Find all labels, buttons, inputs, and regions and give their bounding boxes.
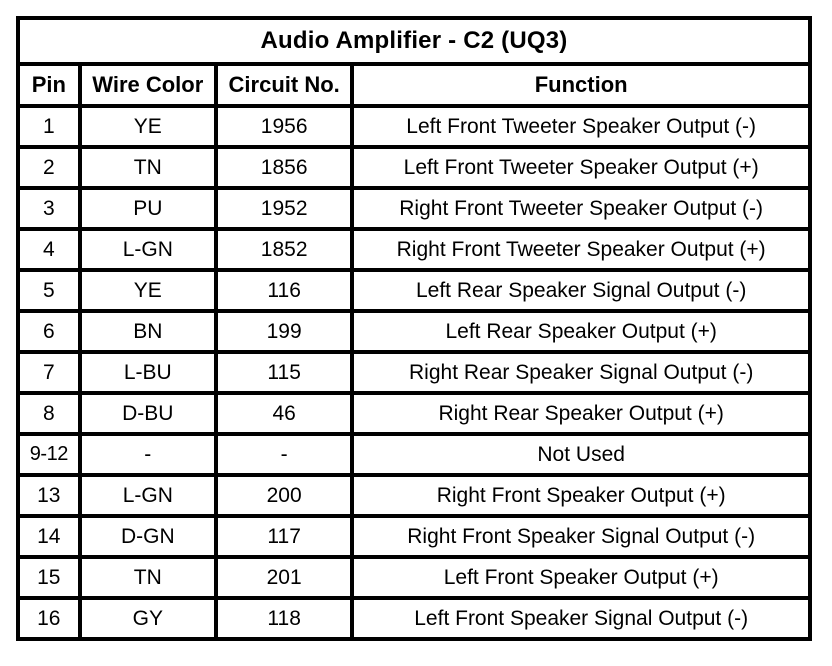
- table-head: Audio Amplifier - C2 (UQ3) Pin Wire Colo…: [20, 20, 812, 108]
- table-row: 16GY118Left Front Speaker Signal Output …: [20, 600, 812, 641]
- column-header-pin: Pin: [20, 66, 82, 108]
- cell-function: Left Rear Speaker Output (+): [354, 313, 812, 354]
- table-row: 1YE1956Left Front Tweeter Speaker Output…: [20, 108, 812, 149]
- cell-pin: 4: [20, 231, 82, 272]
- cell-circuit-no: 200: [218, 477, 354, 518]
- table-row: 9-12--Not Used: [20, 436, 812, 477]
- table-row: 8D-BU46Right Rear Speaker Output (+): [20, 395, 812, 436]
- cell-function: Left Front Tweeter Speaker Output (+): [354, 149, 812, 190]
- cell-wire-color: -: [82, 436, 218, 477]
- pinout-table-container: Audio Amplifier - C2 (UQ3) Pin Wire Colo…: [16, 16, 812, 641]
- cell-wire-color: D-GN: [82, 518, 218, 559]
- cell-function: Right Rear Speaker Output (+): [354, 395, 812, 436]
- table-title: Audio Amplifier - C2 (UQ3): [20, 20, 812, 66]
- table-row: 3PU1952Right Front Tweeter Speaker Outpu…: [20, 190, 812, 231]
- cell-function: Left Front Speaker Output (+): [354, 559, 812, 600]
- table-body: 1YE1956Left Front Tweeter Speaker Output…: [20, 108, 812, 641]
- cell-wire-color: TN: [82, 559, 218, 600]
- table-row: 2TN1856Left Front Tweeter Speaker Output…: [20, 149, 812, 190]
- table-row: 4L-GN1852Right Front Tweeter Speaker Out…: [20, 231, 812, 272]
- cell-circuit-no: 46: [218, 395, 354, 436]
- cell-wire-color: YE: [82, 108, 218, 149]
- cell-circuit-no: 115: [218, 354, 354, 395]
- column-header-function: Function: [354, 66, 812, 108]
- table-row: 7L-BU115Right Rear Speaker Signal Output…: [20, 354, 812, 395]
- cell-circuit-no: 1956: [218, 108, 354, 149]
- table-header-row: Pin Wire Color Circuit No. Function: [20, 66, 812, 108]
- cell-circuit-no: 118: [218, 600, 354, 641]
- cell-wire-color: L-BU: [82, 354, 218, 395]
- table-row: 14D-GN117Right Front Speaker Signal Outp…: [20, 518, 812, 559]
- cell-circuit-no: 201: [218, 559, 354, 600]
- cell-wire-color: PU: [82, 190, 218, 231]
- table-row: 13L-GN200Right Front Speaker Output (+): [20, 477, 812, 518]
- cell-wire-color: GY: [82, 600, 218, 641]
- cell-circuit-no: 1856: [218, 149, 354, 190]
- cell-wire-color: YE: [82, 272, 218, 313]
- cell-pin: 3: [20, 190, 82, 231]
- cell-function: Right Front Tweeter Speaker Output (-): [354, 190, 812, 231]
- cell-pin: 6: [20, 313, 82, 354]
- table-row: 15TN201Left Front Speaker Output (+): [20, 559, 812, 600]
- audio-amplifier-pinout-table: Audio Amplifier - C2 (UQ3) Pin Wire Colo…: [16, 16, 812, 641]
- cell-circuit-no: 199: [218, 313, 354, 354]
- cell-pin: 13: [20, 477, 82, 518]
- cell-function: Right Front Speaker Signal Output (-): [354, 518, 812, 559]
- cell-function: Right Rear Speaker Signal Output (-): [354, 354, 812, 395]
- column-header-wire-color: Wire Color: [82, 66, 218, 108]
- cell-pin: 7: [20, 354, 82, 395]
- cell-pin: 5: [20, 272, 82, 313]
- cell-function: Right Front Tweeter Speaker Output (+): [354, 231, 812, 272]
- cell-function: Left Front Tweeter Speaker Output (-): [354, 108, 812, 149]
- table-title-row: Audio Amplifier - C2 (UQ3): [20, 20, 812, 66]
- cell-pin: 16: [20, 600, 82, 641]
- table-row: 6BN199Left Rear Speaker Output (+): [20, 313, 812, 354]
- cell-circuit-no: 117: [218, 518, 354, 559]
- cell-wire-color: D-BU: [82, 395, 218, 436]
- cell-pin: 8: [20, 395, 82, 436]
- cell-function: Not Used: [354, 436, 812, 477]
- cell-wire-color: L-GN: [82, 477, 218, 518]
- cell-function: Right Front Speaker Output (+): [354, 477, 812, 518]
- cell-wire-color: L-GN: [82, 231, 218, 272]
- cell-function: Left Front Speaker Signal Output (-): [354, 600, 812, 641]
- table-row: 5YE116Left Rear Speaker Signal Output (-…: [20, 272, 812, 313]
- cell-pin: 14: [20, 518, 82, 559]
- cell-wire-color: BN: [82, 313, 218, 354]
- cell-circuit-no: 1852: [218, 231, 354, 272]
- cell-pin: 2: [20, 149, 82, 190]
- cell-circuit-no: 1952: [218, 190, 354, 231]
- column-header-circuit-no: Circuit No.: [218, 66, 354, 108]
- cell-circuit-no: 116: [218, 272, 354, 313]
- cell-pin: 1: [20, 108, 82, 149]
- cell-circuit-no: -: [218, 436, 354, 477]
- cell-pin: 15: [20, 559, 82, 600]
- cell-pin: 9-12: [20, 436, 82, 477]
- cell-function: Left Rear Speaker Signal Output (-): [354, 272, 812, 313]
- cell-wire-color: TN: [82, 149, 218, 190]
